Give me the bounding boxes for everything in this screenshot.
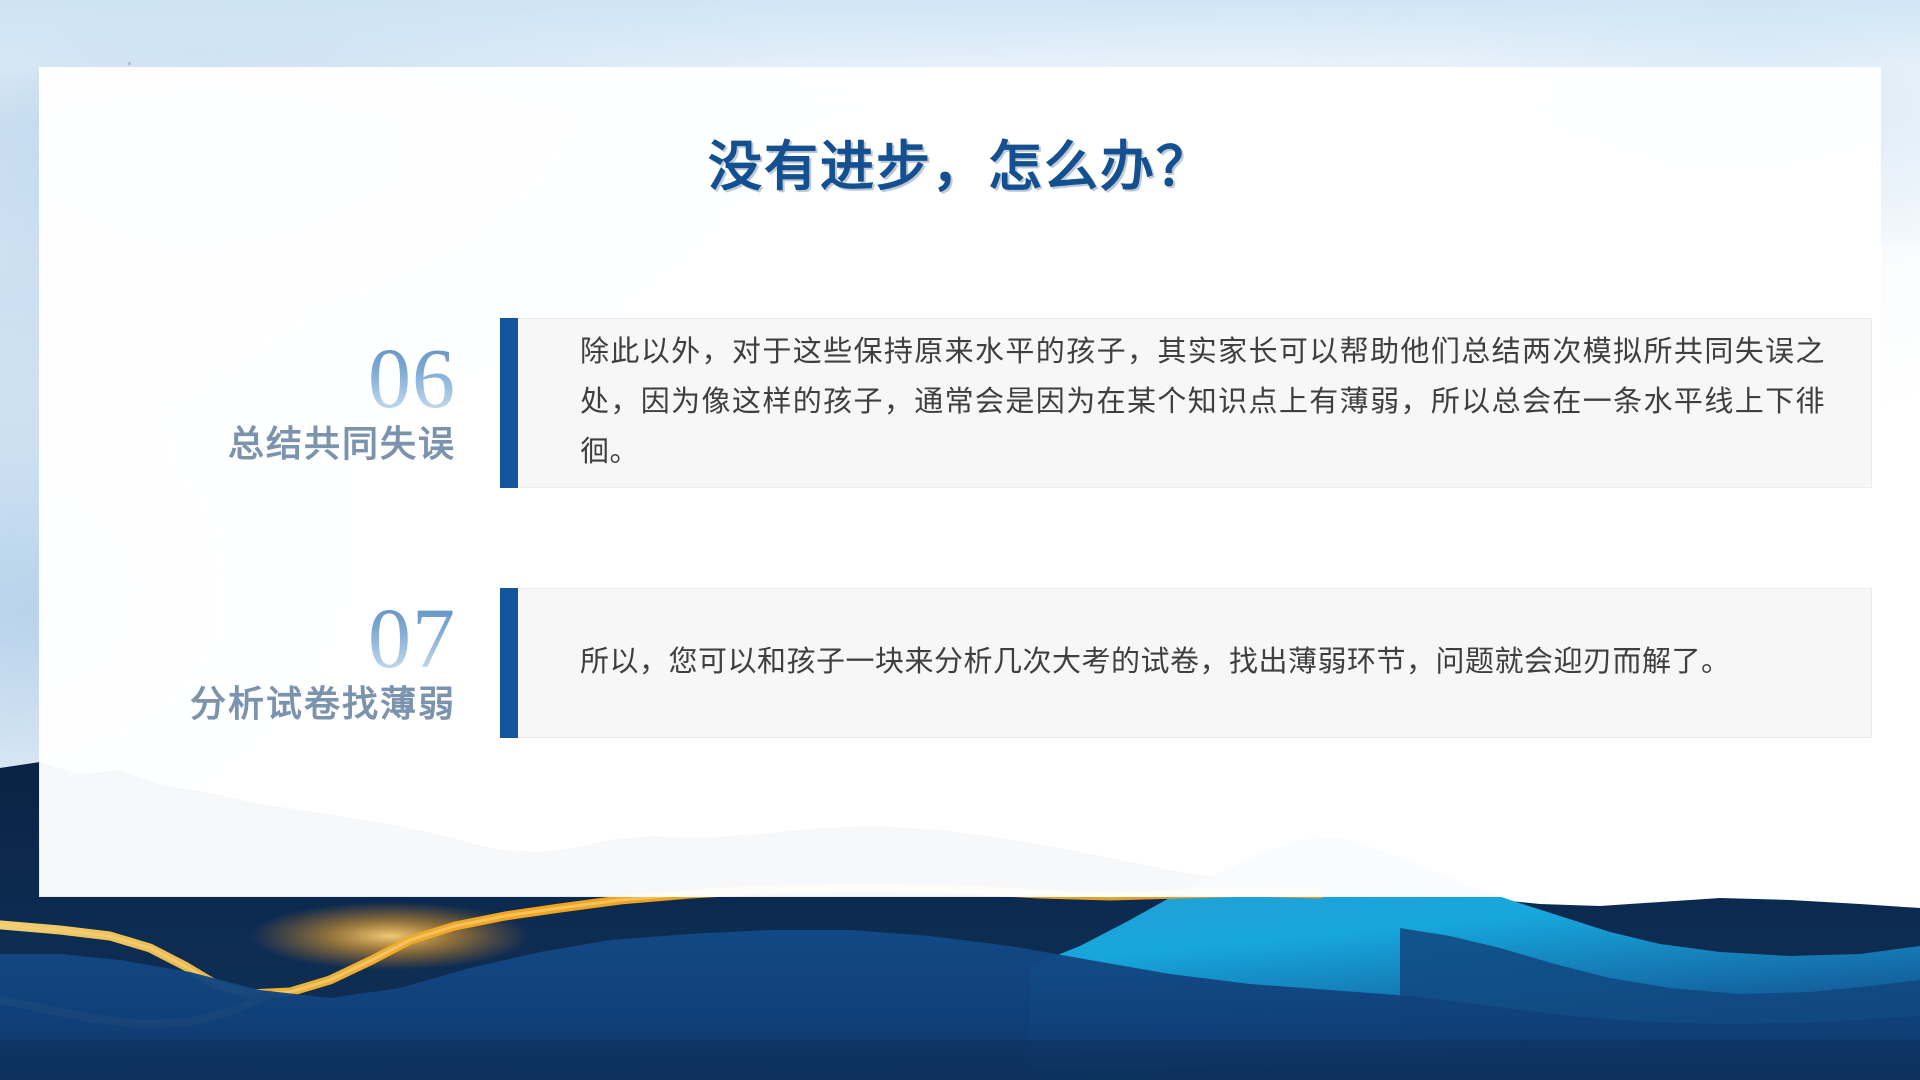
accent-bar-07	[500, 588, 518, 738]
page-title: 没有进步，怎么办？	[40, 122, 1880, 201]
item-body-06: 除此以外，对于这些保持原来水平的孩子，其实家长可以帮助他们总结两次模拟所共同失误…	[580, 328, 1825, 478]
content-panel: 没有进步，怎么办？ 06 总结共同失误 除此以外，对于这些保持原来水平的孩子，其…	[40, 68, 1880, 896]
content-row-06: 06 总结共同失误 除此以外，对于这些保持原来水平的孩子，其实家长可以帮助他们总…	[40, 318, 1872, 488]
item-number-07: 07	[368, 599, 456, 678]
slide-canvas: 没有进步，怎么办？ 06 总结共同失误 除此以外，对于这些保持原来水平的孩子，其…	[0, 0, 1920, 1080]
content-row-07: 07 分析试卷找薄弱 所以，您可以和孩子一块来分析几次大考的试卷，找出薄弱环节，…	[40, 588, 1872, 738]
item-label-06: 总结共同失误	[228, 415, 456, 467]
number-column-06: 06 总结共同失误	[40, 318, 500, 488]
item-body-07: 所以，您可以和孩子一块来分析几次大考的试卷，找出薄弱环节，问题就会迎刃而解了。	[580, 638, 1731, 688]
content-card-06: 除此以外，对于这些保持原来水平的孩子，其实家长可以帮助他们总结两次模拟所共同失误…	[518, 318, 1872, 488]
item-label-07: 分析试卷找薄弱	[190, 675, 456, 727]
number-column-07: 07 分析试卷找薄弱	[40, 588, 500, 738]
item-number-06: 06	[368, 339, 456, 418]
accent-bar-06	[500, 318, 518, 488]
content-card-07: 所以，您可以和孩子一块来分析几次大考的试卷，找出薄弱环节，问题就会迎刃而解了。	[518, 588, 1872, 738]
decorative-speck	[128, 62, 131, 65]
